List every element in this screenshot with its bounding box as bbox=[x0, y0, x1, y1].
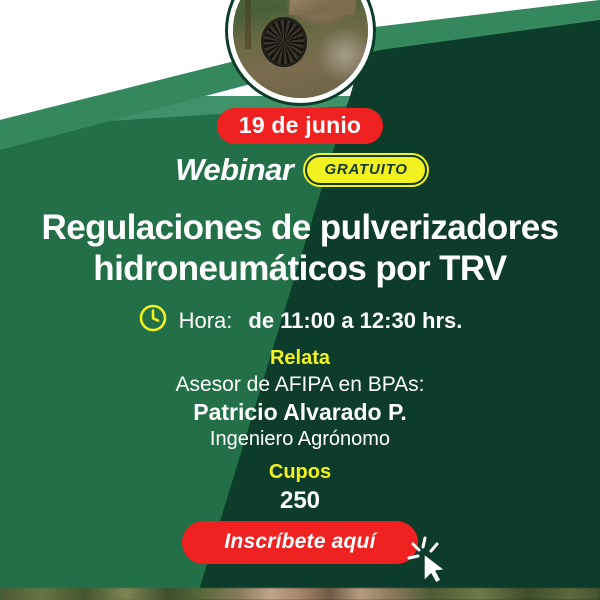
sprayer-machine-photo bbox=[233, 0, 368, 98]
speaker-title: Ingeniero Agrónomo bbox=[0, 427, 600, 452]
hero-photo-fan bbox=[261, 17, 307, 67]
hour-row: Hora: de 11:00 a 12:30 hrs. bbox=[0, 303, 600, 338]
date-badge: 19 de junio bbox=[217, 108, 383, 144]
cta-container: Inscríbete aquí bbox=[0, 521, 600, 564]
register-button[interactable]: Inscríbete aquí bbox=[182, 521, 417, 564]
speaker-block: Relata Asesor de AFIPA en BPAs: Patricio… bbox=[0, 345, 600, 452]
clock-icon bbox=[138, 303, 168, 338]
speaker-role: Asesor de AFIPA en BPAs: bbox=[0, 372, 600, 398]
hour-label: Hora: bbox=[179, 310, 233, 332]
page-title: Regulaciones de pulverizadores hidroneum… bbox=[0, 207, 600, 290]
cupos-label: Cupos bbox=[0, 459, 600, 486]
gratuito-badge: GRATUITO bbox=[307, 157, 424, 183]
relata-label: Relata bbox=[0, 345, 600, 372]
cupos-block: Cupos 250 bbox=[0, 459, 600, 516]
date-badge-container: 19 de junio bbox=[0, 108, 600, 144]
hero-photo-circle bbox=[228, 0, 373, 103]
hour-value: de 11:00 a 12:30 hrs. bbox=[248, 310, 462, 332]
webinar-poster: 19 de junio Webinar GRATUITO Regulacione… bbox=[0, 0, 600, 600]
hero-photo-tree bbox=[245, 0, 251, 49]
cupos-value: 250 bbox=[0, 486, 600, 516]
webinar-row: Webinar GRATUITO bbox=[0, 154, 600, 185]
mouse-cursor-click-icon bbox=[407, 534, 453, 589]
bottom-photo-strip bbox=[0, 588, 600, 600]
title-line-2: hidroneumáticos por TRV bbox=[0, 248, 600, 289]
hero-photo-machine-body bbox=[289, 0, 360, 15]
title-line-1: Regulaciones de pulverizadores bbox=[0, 207, 600, 248]
webinar-label: Webinar bbox=[175, 154, 293, 185]
speaker-name: Patricio Alvarado P. bbox=[0, 398, 600, 427]
